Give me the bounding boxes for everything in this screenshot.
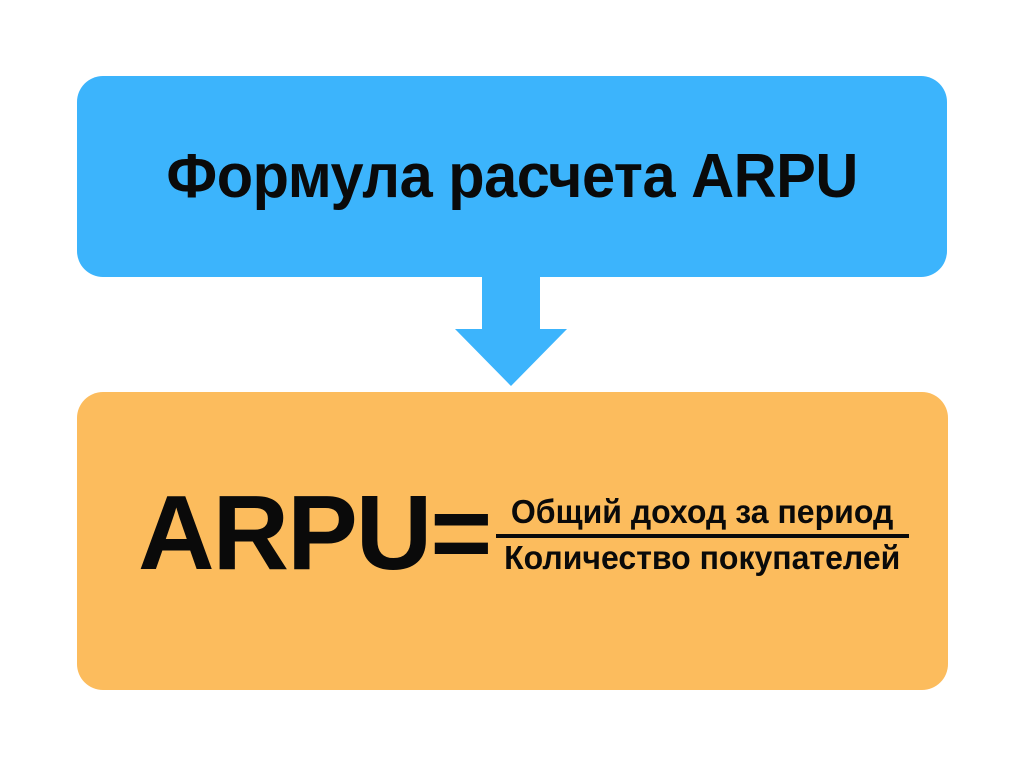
- arrow-down-icon: [455, 270, 567, 386]
- fraction-bar: [496, 534, 909, 538]
- arrow-down-shape: [455, 270, 567, 386]
- page-title: Формула расчета ARPU: [166, 146, 857, 208]
- fraction-numerator: Общий доход за период: [505, 493, 899, 532]
- header-card: Формула расчета ARPU: [77, 76, 947, 277]
- formula-fraction: Общий доход за период Количество покупат…: [492, 493, 912, 578]
- slide-canvas: Формула расчета ARPU ARPU= Общий доход з…: [0, 0, 1024, 768]
- formula-card: ARPU= Общий доход за период Количество п…: [77, 392, 948, 690]
- arpu-formula: ARPU= Общий доход за период Количество п…: [138, 480, 913, 590]
- fraction-denominator: Количество покупателей: [499, 539, 907, 578]
- formula-left-side: ARPU=: [138, 480, 490, 586]
